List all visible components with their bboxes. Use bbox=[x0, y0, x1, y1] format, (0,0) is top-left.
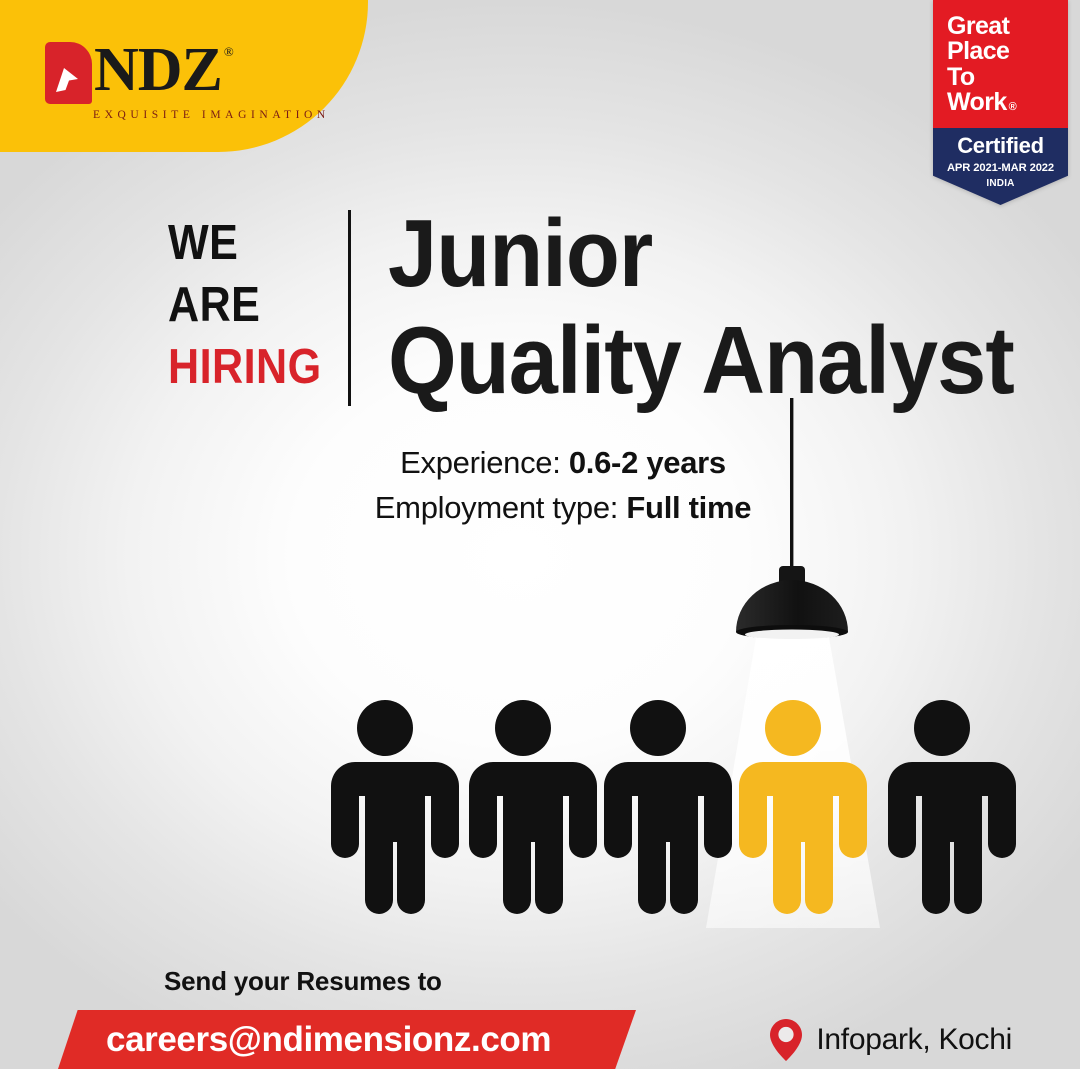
great-place-to-work-badge: Great Place To Work ® Certified APR 2021… bbox=[933, 0, 1068, 205]
badge-validity-dates: APR 2021-MAR 2022 bbox=[947, 162, 1054, 174]
logo-wordmark: NDZ bbox=[94, 41, 222, 99]
person-3 bbox=[604, 700, 732, 914]
employment-line: Employment type: Full time bbox=[0, 485, 1080, 530]
person-1 bbox=[331, 700, 459, 914]
email-address[interactable]: careers@ndimensionz.com bbox=[106, 1020, 551, 1060]
we-are-hiring-block: WE ARE HIRING bbox=[168, 212, 343, 398]
badge-line-work: Work bbox=[947, 90, 1007, 116]
send-resumes-label: Send your Resumes to bbox=[164, 966, 442, 997]
map-pin-icon bbox=[769, 1018, 803, 1062]
location-block: Infopark, Kochi bbox=[769, 1018, 1012, 1062]
headline-we: WE bbox=[168, 212, 322, 274]
person-2 bbox=[469, 700, 597, 914]
badge-line-to: To bbox=[947, 65, 1068, 91]
badge-line-place: Place bbox=[947, 39, 1068, 65]
lamp-bulb-glow bbox=[745, 630, 839, 640]
badge-bottom-section: Certified APR 2021-MAR 2022 INDIA bbox=[933, 128, 1068, 205]
logo-row: NDZ ® bbox=[45, 42, 234, 104]
badge-country: INDIA bbox=[986, 178, 1014, 189]
job-title-line-1: Junior bbox=[388, 200, 1014, 307]
experience-value: 0.6-2 years bbox=[569, 445, 726, 480]
logo-tagline: EXQUISITE IMAGINATION bbox=[93, 109, 330, 121]
badge-line-great: Great bbox=[947, 14, 1068, 40]
headline-hiring: HIRING bbox=[168, 336, 322, 398]
job-title: Junior Quality Analyst bbox=[388, 200, 1068, 414]
badge-top-section: Great Place To Work ® bbox=[933, 0, 1068, 128]
headline-are: ARE bbox=[168, 274, 322, 336]
experience-label: Experience: bbox=[400, 445, 569, 480]
people-row bbox=[0, 700, 1080, 930]
headline-divider bbox=[348, 210, 351, 406]
lamp-dome bbox=[736, 580, 848, 632]
employment-value: Full time bbox=[626, 490, 751, 525]
job-poster: NDZ ® EXQUISITE IMAGINATION Great Place … bbox=[0, 0, 1080, 1069]
cursor-arrow-icon bbox=[45, 42, 92, 104]
badge-certified-label: Certified bbox=[957, 133, 1044, 159]
location-text: Infopark, Kochi bbox=[816, 1023, 1012, 1057]
person-5 bbox=[888, 700, 1016, 914]
badge-line-work-row: Work ® bbox=[947, 90, 1068, 121]
employment-label: Employment type: bbox=[375, 490, 627, 525]
badge-registered-mark: ® bbox=[1009, 95, 1017, 121]
job-title-line-2: Quality Analyst bbox=[388, 307, 1014, 414]
email-banner[interactable]: careers@ndimensionz.com bbox=[58, 1010, 636, 1069]
logo-registered-mark: ® bbox=[224, 44, 234, 60]
experience-line: Experience: 0.6-2 years bbox=[0, 440, 1080, 485]
person-4-highlighted bbox=[739, 700, 867, 914]
cursor-arrow-glyph bbox=[54, 64, 80, 94]
job-details: Experience: 0.6-2 years Employment type:… bbox=[0, 440, 1080, 530]
company-logo: NDZ ® EXQUISITE IMAGINATION bbox=[45, 42, 330, 121]
